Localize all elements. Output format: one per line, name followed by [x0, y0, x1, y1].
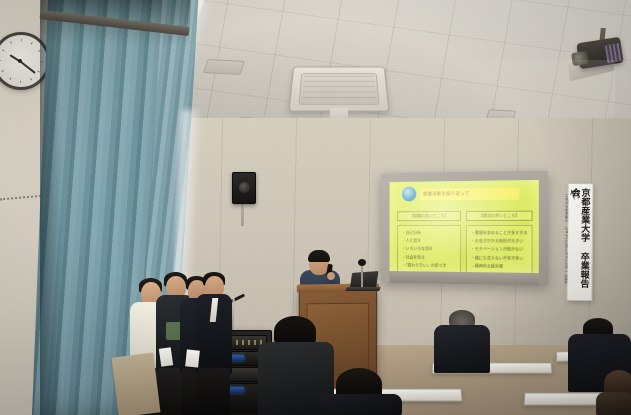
slide-title-band: 就職活動を振り返って	[420, 187, 519, 200]
speaker-bracket	[241, 202, 244, 226]
attendee-torso	[318, 394, 402, 415]
slide-column-body: ・自己分析 ・人と話す ・いろいろな会社 ・社会を知る ・「変わりたい」の気づき	[397, 225, 461, 273]
podium-mic-stem	[361, 265, 363, 287]
slide-column-heading-text: 【就職の良いところ】	[410, 213, 449, 219]
attendee-torso	[596, 392, 631, 415]
slide-column-heading-text: 【就活の辛いところ】	[479, 213, 519, 219]
handout-paper	[185, 349, 200, 367]
banner-main-text: 京都産業大学 卒業報告会	[569, 188, 590, 296]
slide-bullet: ・お金がかかる負担が大きい	[471, 237, 529, 246]
air-conditioner-grill	[302, 76, 376, 102]
slide-bullet: ・人と話す	[402, 237, 457, 245]
podium-microphone-icon	[358, 259, 366, 266]
slide-column-left: 【就職の良いところ】 ・自己分析 ・人と話す ・いろいろな会社 ・社会を知る ・…	[397, 211, 461, 273]
student-legs	[198, 368, 230, 415]
ceiling-air-conditioner	[288, 67, 389, 112]
attendee-torso	[434, 325, 490, 373]
air-conditioner-face	[299, 73, 380, 105]
slide-column-heading: 【就活の辛いところ】	[466, 211, 533, 221]
slide-bullet: ・自己分析	[402, 229, 457, 237]
slide-bullet: →精神的な疲労感	[471, 262, 529, 271]
clock-center-pin	[18, 59, 22, 63]
university-seal-icon	[402, 187, 416, 202]
presenter-hair	[308, 250, 330, 262]
speaker-cone	[239, 182, 250, 193]
laptop-base	[345, 287, 380, 291]
rack-display	[228, 387, 244, 393]
slide-column-heading: 【就職の良いところ】	[397, 211, 461, 221]
projection-screen: 就職活動を振り返って 【就職の良いところ】 ・自己分析 ・人と話す ・いろいろな…	[381, 171, 548, 286]
slide-column-body: ・書類を求めることが多すぎる ・お金がかかる負担が大きい ・モチベーションが続か…	[466, 225, 533, 273]
handout-paper	[159, 347, 173, 366]
slide-surface: 就職活動を振り返って 【就職の良いところ】 ・自己分析 ・人と話す ・いろいろな…	[390, 180, 539, 273]
slide-bullet: ・書類を求めることが多すぎる	[471, 229, 529, 237]
curtain-shadow-edge	[40, 0, 62, 415]
projector-vent	[605, 43, 624, 63]
presenter-hand	[327, 272, 335, 280]
slide-column-right: 【就活の辛いところ】 ・書類を求めることが多すぎる ・お金がかかる負担が大きい …	[466, 211, 533, 273]
ceiling-vent-panel	[203, 59, 245, 75]
loudspeaker-icon	[232, 172, 256, 204]
lecture-hall-photograph: 就職活動を振り返って 【就職の良いところ】 ・自己分析 ・人と話す ・いろいろな…	[0, 0, 631, 415]
projector-lens	[571, 51, 589, 66]
standing-student-bag	[112, 353, 161, 415]
slide-bullet: ・「変わりたい」の気づき	[402, 261, 457, 270]
slide-title-text: 就職活動を振り返って	[420, 191, 470, 197]
